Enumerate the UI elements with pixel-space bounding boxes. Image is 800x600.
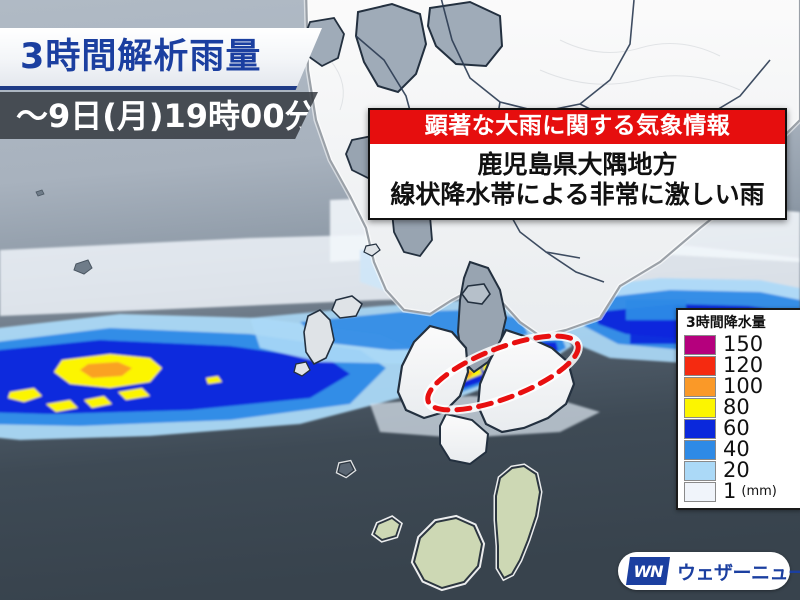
title-banner-label: 3時間解析雨量 (20, 40, 261, 75)
legend-label-40: 40 (723, 439, 750, 460)
legend-swatch-40 (684, 440, 716, 460)
legend-row-1: 1 (mm) (684, 481, 796, 502)
alert-body: 鹿児島県大隅地方 線状降水帯による非常に激しい雨 (370, 144, 785, 218)
legend-label-20: 20 (723, 460, 750, 481)
alert-region: 鹿児島県大隅地方 (374, 150, 781, 180)
legend-label-80: 80 (723, 397, 750, 418)
legend-row-100: 100 (684, 376, 796, 397)
weather-map-screenshot: 3時間解析雨量 〜9日(月)19時00分 顕著な大雨に関する気象情報 鹿児島県大… (0, 0, 800, 600)
legend-row-40: 40 (684, 439, 796, 460)
wn-badge-icon: WN (626, 557, 670, 585)
legend-row-120: 120 (684, 355, 796, 376)
weather-alert-box: 顕著な大雨に関する気象情報 鹿児島県大隅地方 線状降水帯による非常に激しい雨 (368, 108, 787, 220)
weathernews-brand-label: ウェザーニュース (677, 558, 800, 585)
legend-swatch-1 (684, 482, 716, 502)
legend-row-80: 80 (684, 397, 796, 418)
weathernews-logo[interactable]: WN ウェザーニュース (618, 552, 790, 590)
legend-label-100: 100 (723, 376, 763, 397)
alert-description: 線状降水帯による非常に激しい雨 (374, 180, 781, 210)
timestamp-label: 〜9日(月)19時00分 (16, 100, 317, 132)
legend-swatch-60 (684, 419, 716, 439)
legend-label-1: 1 (723, 481, 736, 502)
legend-unit: (mm) (741, 484, 776, 499)
legend-label-60: 60 (723, 418, 750, 439)
legend-label-120: 120 (723, 355, 763, 376)
legend-label-150: 150 (723, 334, 763, 355)
weather-map-canvas (0, 0, 800, 600)
legend-swatch-20 (684, 461, 716, 481)
timestamp-bar: 〜9日(月)19時00分 (0, 92, 318, 139)
alert-header: 顕著な大雨に関する気象情報 (370, 110, 785, 144)
legend-swatch-120 (684, 356, 716, 376)
rainfall-legend: 3時間降水量 150 120 100 80 60 40 20 (676, 308, 800, 510)
legend-row-20: 20 (684, 460, 796, 481)
legend-row-60: 60 (684, 418, 796, 439)
legend-swatch-100 (684, 377, 716, 397)
wn-badge-label: WN (633, 562, 662, 581)
legend-row-150: 150 (684, 334, 796, 355)
legend-swatch-150 (684, 335, 716, 355)
legend-title: 3時間降水量 (686, 316, 796, 330)
title-banner: 3時間解析雨量 (0, 28, 322, 90)
legend-swatch-80 (684, 398, 716, 418)
